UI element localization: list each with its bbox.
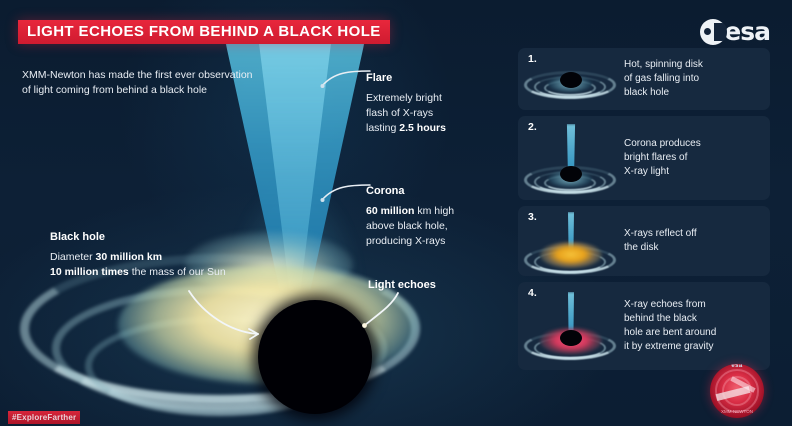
step-3-line-1: X-rays reflect off	[624, 227, 697, 241]
step-2-line-3: X-ray light	[624, 165, 701, 179]
black-hole-mass-value: 10 million times	[50, 266, 129, 278]
flare-body-line-2: flash of X-rays	[366, 106, 486, 121]
corona-body-line-3: producing X-rays	[366, 234, 496, 249]
black-hole-title: Black hole	[50, 231, 300, 243]
corona-body-line-2: above black hole,	[366, 219, 496, 234]
light-echoes-title: Light echoes	[368, 279, 478, 291]
step-1-line-3: black hole	[624, 86, 703, 100]
flare-duration-value: 2.5 hours	[399, 122, 446, 134]
corona-body-line-1: 60 million km high	[366, 204, 496, 219]
black-hole-body-line-2: 10 million times the mass of our Sun	[50, 265, 300, 280]
step-1-text: Hot, spinning disk of gas falling into b…	[624, 50, 713, 109]
black-hole-base-mask	[250, 384, 382, 426]
intro-paragraph: XMM-Newton has made the first ever obser…	[22, 68, 282, 98]
xmm-newton-mission-patch-icon: esa XMM-NEWTON	[710, 364, 764, 418]
step-2-line-2: bright flares of	[624, 151, 701, 165]
corona-body: 60 million km high above black hole, pro…	[366, 204, 496, 249]
step-4-line-3: hole are bent around	[624, 326, 716, 340]
patch-esa-label: esa	[731, 364, 742, 369]
step-card-4[interactable]: 4. X-ray echoes from behind the black ho…	[518, 282, 770, 370]
black-hole-body-line-1: Diameter 30 million km	[50, 250, 300, 265]
flare-body-line-1: Extremely bright	[366, 91, 486, 106]
step-2-text: Corona produces bright flares of X-ray l…	[624, 129, 711, 188]
step-card-2[interactable]: 2. Corona produces bright flares of X-ra…	[518, 116, 770, 200]
step-1-illustration	[518, 48, 624, 110]
patch-mission-label: XMM-NEWTON	[721, 409, 753, 414]
esa-globe-icon	[700, 19, 726, 45]
intro-line-2: of light coming from behind a black hole	[22, 83, 282, 98]
step-card-1[interactable]: 1. Hot, spinning disk of gas falling int…	[518, 48, 770, 110]
step-1-line-1: Hot, spinning disk	[624, 58, 703, 72]
intro-line-1: XMM-Newton has made the first ever obser…	[22, 68, 282, 83]
black-hole-diameter-value: 30 million km	[96, 251, 163, 263]
step-2-line-1: Corona produces	[624, 137, 701, 151]
esa-logo-word: esa	[724, 17, 770, 46]
step-4-line-4: it by extreme gravity	[624, 340, 716, 354]
corona-title: Corona	[366, 185, 496, 197]
step-4-text: X-ray echoes from behind the black hole …	[624, 290, 726, 363]
annotation-black-hole: Black hole Diameter 30 million km 10 mil…	[50, 231, 300, 280]
step-4-illustration	[518, 282, 624, 370]
infographic-canvas: LIGHT ECHOES FROM BEHIND A BLACK HOLE es…	[0, 0, 792, 426]
step-card-3[interactable]: 3. X-rays reflect off the disk	[518, 206, 770, 276]
steps-panel: 1. Hot, spinning disk of gas falling int…	[518, 48, 770, 376]
esa-logo: esa	[700, 17, 770, 46]
step-3-text: X-rays reflect off the disk	[624, 219, 707, 263]
annotation-flare: Flare Extremely bright flash of X-rays l…	[366, 72, 486, 136]
flare-title: Flare	[366, 72, 486, 84]
annotation-light-echoes: Light echoes	[368, 279, 478, 291]
corona-height-value: 60 million	[366, 205, 414, 217]
flare-body-line-3: lasting 2.5 hours	[366, 121, 486, 136]
hashtag-badge: #ExploreFarther	[8, 411, 80, 424]
page-title: LIGHT ECHOES FROM BEHIND A BLACK HOLE	[18, 20, 390, 44]
step-4-line-1: X-ray echoes from	[624, 298, 716, 312]
step-3-line-2: the disk	[624, 241, 697, 255]
step-2-illustration	[518, 116, 624, 200]
flare-body: Extremely bright flash of X-rays lasting…	[366, 91, 486, 136]
step-4-line-2: behind the black	[624, 312, 716, 326]
black-hole-body: Diameter 30 million km 10 million times …	[50, 250, 300, 280]
step-1-line-2: of gas falling into	[624, 72, 703, 86]
step-3-illustration	[518, 206, 624, 276]
annotation-corona: Corona 60 million km high above black ho…	[366, 185, 496, 249]
